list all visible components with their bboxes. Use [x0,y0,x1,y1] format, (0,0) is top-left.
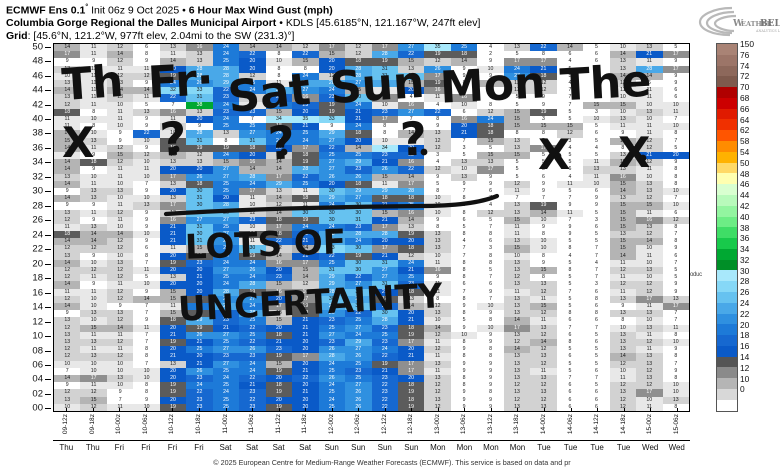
heatmap-cell: 11 [133,325,159,332]
heatmap-cell: 21 [213,325,239,332]
heatmap-cell: 11 [107,281,133,288]
heatmap-cell: 9 [424,217,450,224]
heatmap-cell: 8 [451,274,477,281]
heatmap-cell: 10 [133,375,159,382]
heatmap-cell: 9 [133,58,159,65]
heatmap-cell: 14 [636,73,662,80]
heatmap-cell: 19 [186,310,212,317]
heatmap-cell: 5 [504,51,530,58]
legend-tick-label: 48 [740,169,749,179]
y-axis-tick-mark [45,148,51,149]
heatmap-cell: 13 [610,310,636,317]
x-axis-tick-mark [491,408,492,412]
heatmap-cell: 11 [557,210,583,217]
heatmap-cell: 15 [530,303,556,310]
heatmap-cell: 28 [372,80,398,87]
heatmap-cell: 6 [663,253,689,260]
heatmap-cell: 15 [186,245,212,252]
heatmap-cell: 9 [80,253,106,260]
heatmap-cell: 8 [610,317,636,324]
heatmap-cell: 13 [266,310,292,317]
heatmap-cell: 11 [530,317,556,324]
heatmap-cell: 18 [266,217,292,224]
heatmap-cell: 19 [239,289,265,296]
heatmap-cell: 9 [451,389,477,396]
heatmap-cell: 6 [663,210,689,217]
heatmap-cell: 5 [557,73,583,80]
y-axis-tick-mark [45,206,51,207]
heatmap-cell: 7 [583,267,609,274]
heatmap-cell: 9 [80,152,106,159]
heatmap-cell: 8 [451,260,477,267]
heatmap-cell: 6 [663,94,689,101]
heatmap-cell: 9 [451,397,477,404]
heatmap-cell: 11 [636,346,662,353]
y-axis-tick-label: 24 [32,229,43,240]
heatmap-cell: 9 [663,80,689,87]
legend-tick-label: 50 [740,158,749,168]
heatmap-cell: 27 [213,174,239,181]
heatmap-cell: 28 [213,73,239,80]
heatmap-cell: 13 [504,389,530,396]
legend-swatch [717,357,737,368]
heatmap-cell: 8 [266,73,292,80]
heatmap-cell: 25 [213,245,239,252]
heatmap-cell: 11 [636,94,662,101]
heatmap-cell: 13 [160,210,186,217]
heatmap-cell: 9 [451,368,477,375]
heatmap-cell: 26 [186,368,212,375]
legend-swatch [717,292,737,303]
heatmap-cell: 10 [133,231,159,238]
heatmap-cell: 14 [54,303,80,310]
heatmap-cell: 28 [319,80,345,87]
legend-swatch [717,400,737,411]
heatmap-cell: 9 [107,389,133,396]
heatmap-cell: 4 [477,202,503,209]
heatmap-cell: 20 [186,116,212,123]
heatmap-cell: 13 [424,375,450,382]
heatmap-cell: 11 [504,188,530,195]
heatmap-cell: 12 [530,310,556,317]
heatmap-cell: 17 [319,44,345,51]
heatmap-cell: 12 [530,289,556,296]
heatmap-cell: 24 [213,281,239,288]
heatmap-cell: 14 [266,44,292,51]
heatmap-cell: 29 [372,188,398,195]
heatmap-cell: 5 [504,166,530,173]
heatmap-cell: 13 [610,152,636,159]
heatmap-cell: 10 [530,238,556,245]
heatmap-cell: 7 [663,138,689,145]
y-axis-tick-mark [45,351,51,352]
heatmap-cell: 14 [398,303,424,310]
heatmap-cell: 14 [530,339,556,346]
heatmap-cell: 21 [345,109,371,116]
day-label: Tue [590,443,604,452]
heatmap-cell: 10 [477,303,503,310]
heatmap-cell: 9 [133,188,159,195]
heatmap-cell: 15 [610,159,636,166]
heatmap-cell: 11 [530,296,556,303]
heatmap-cell: 18 [345,181,371,188]
y-axis-tick-mark [45,119,51,120]
heatmap-cell: 19 [530,202,556,209]
heatmap-cell: 8 [530,130,556,137]
legend-swatch [717,367,737,378]
legend-tick-label: 76 [740,50,749,60]
day-label: Sun [404,443,418,452]
heatmap-cell: 29 [292,80,318,87]
heatmap-cell: 10 [636,274,662,281]
heatmap-cell: 16 [292,289,318,296]
heatmap-cell: 8 [133,51,159,58]
heatmap-cell: 30 [319,296,345,303]
heatmap-cell: 22 [213,310,239,317]
heatmap-cell: 31 [186,138,212,145]
x-axis-tick-mark [66,408,67,412]
heatmap-cell: 6 [663,87,689,94]
heatmap-cell: 23 [372,325,398,332]
heatmap-cell: 27 [345,346,371,353]
heatmap-cell: 12 [107,274,133,281]
heatmap-cell: 5 [583,382,609,389]
heatmap-cell: 5 [557,281,583,288]
heatmap-cell: 14 [54,145,80,152]
heatmap-cell: 30 [213,210,239,217]
heatmap-cell: 7 [557,195,583,202]
heatmap-cell: 5 [557,361,583,368]
heatmap-cell: 11 [424,289,450,296]
heatmap-cell: 15 [398,58,424,65]
heatmap-cell: 12 [266,202,292,209]
legend-tick-label: 46 [740,179,749,189]
legend-tick-label: 34 [740,244,749,254]
heatmap-cell: 5 [583,80,609,87]
heatmap-cell: 8 [451,267,477,274]
heatmap-cell: 11 [504,231,530,238]
heatmap-cell: 11 [636,87,662,94]
heatmap-cell: 18 [266,123,292,130]
heatmap-cell: 17 [504,325,530,332]
heatmap-cell: 13 [186,109,212,116]
heatmap-cell: 7 [398,116,424,123]
heatmap-cell: 15 [610,238,636,245]
heatmap-cell: 30 [345,289,371,296]
heatmap-cell: 17 [424,73,450,80]
heatmap-cell: 12 [239,94,265,101]
heatmap-cell: 11 [133,66,159,73]
heatmap-cell: 22 [372,303,398,310]
heatmap-cell: 12 [54,267,80,274]
heatmap-cell: 8 [266,51,292,58]
heatmap-cell: 20 [398,310,424,317]
heatmap-cell: 21 [292,123,318,130]
legend-tick-label: 24 [740,298,749,308]
heatmap-cell: 12 [636,145,662,152]
heatmap-cell: 23 [186,375,212,382]
heatmap-cell: 4 [451,238,477,245]
heatmap-cell: 20 [398,145,424,152]
x-axis-tick-mark [119,408,120,412]
heatmap-cell: 13 [504,310,530,317]
heatmap-cell: 7 [133,361,159,368]
heatmap-cell: 3 [583,281,609,288]
heatmap-cell: 12 [107,210,133,217]
heatmap-cell: 24 [345,102,371,109]
legend-swatch [717,130,737,141]
heatmap-cell: 5 [530,159,556,166]
heatmap-cell: 8 [477,389,503,396]
heatmap-cell: 12 [636,138,662,145]
heatmap-cell: 5 [557,159,583,166]
heatmap-cell: 21 [292,368,318,375]
heatmap-cell: 6 [583,130,609,137]
heatmap-cell: 15 [160,152,186,159]
heatmap-cell: 9 [186,123,212,130]
heatmap-cell: 22 [239,397,265,404]
heatmap-cell: 28 [213,289,239,296]
heatmap-cell: 30 [239,245,265,252]
heatmap-cell: 16 [398,210,424,217]
heatmap-cell: 11 [80,289,106,296]
heatmap-cell: 21 [372,368,398,375]
heatmap-cell: 3 [451,145,477,152]
heatmap-cell: 9 [477,375,503,382]
heatmap-cell: 8 [451,296,477,303]
heatmap-cell: 27 [239,130,265,137]
heatmap-cell: 27 [345,325,371,332]
heatmap-cell: 9 [557,231,583,238]
heatmap-cell: 11 [54,116,80,123]
heatmap-cell: 11 [80,73,106,80]
legend-swatch [717,195,737,206]
heatmap-cell: 14 [160,58,186,65]
day-label: Thu [59,443,73,452]
legend-swatch [717,378,737,389]
heatmap-cell: 24 [239,303,265,310]
heatmap-cell: 23 [186,260,212,267]
heatmap-cell: 7 [557,102,583,109]
heatmap-cell: 14 [610,138,636,145]
heatmap-cell: 23 [213,109,239,116]
heatmap-cell: 24 [266,130,292,137]
heatmap-cell: 21 [266,339,292,346]
heatmap-cell: 8 [663,375,689,382]
heatmap-cell: 30 [319,217,345,224]
heatmap-cell: 27 [213,296,239,303]
heatmap-cell: 30 [345,94,371,101]
day-label: Sat [273,443,285,452]
heatmap-cell: 5 [530,152,556,159]
heatmap-cell: 10 [424,195,450,202]
heatmap-cell: 20 [160,188,186,195]
heatmap-cell: 17 [398,361,424,368]
heatmap-cell: 22 [266,238,292,245]
heatmap-cell: 15 [477,138,503,145]
heatmap-cell: 7 [583,274,609,281]
heatmap-cell: 12 [292,281,318,288]
heatmap-cell: 9 [80,58,106,65]
ensemble-gust-heatmap[interactable]: 1411126131624141412171217273525413221451… [53,43,690,412]
heatmap-cell: 14 [504,317,530,324]
day-label: Sat [246,443,258,452]
legend-tick-label: 72 [740,71,749,81]
heatmap-cell: 7 [663,260,689,267]
y-axis-tick-label: 16 [32,287,43,298]
heatmap-cell: 8 [663,224,689,231]
legend-tick-label: 44 [740,190,749,200]
heatmap-cell: 22 [319,145,345,152]
heatmap-cell: 11 [80,332,106,339]
heatmap-cell: 10 [54,361,80,368]
day-label: Mon [457,443,473,452]
heatmap-cell: 9 [583,202,609,209]
heatmap-cell: 17 [504,58,530,65]
heatmap-cell: 12 [424,145,450,152]
heatmap-cell: 9 [451,346,477,353]
heatmap-cell: 12 [54,102,80,109]
heatmap-cell: 13 [636,375,662,382]
heatmap-cell: 13 [54,210,80,217]
heatmap-cell: 17 [266,174,292,181]
heatmap-cell: 29 [345,159,371,166]
heatmap-cell: 25 [292,130,318,137]
heatmap-cell: 19 [345,253,371,260]
x-axis-tick-label: 09-18z [89,414,96,434]
heatmap-cell: 14 [292,274,318,281]
heatmap-cell: 18 [398,195,424,202]
heatmap-cell: 13 [610,116,636,123]
heatmap-cell: 19 [266,368,292,375]
heatmap-cell: 10 [107,361,133,368]
heatmap-cell: 22 [372,382,398,389]
heatmap-cell: 11 [54,289,80,296]
heatmap-cell: 26 [319,310,345,317]
heatmap-cell: 21 [292,253,318,260]
heatmap-cell: 34 [266,116,292,123]
legend-swatch [717,173,737,184]
heatmap-cell: 30 [186,188,212,195]
heatmap-cell: 3 [530,166,556,173]
heatmap-cell: 30 [372,310,398,317]
heatmap-cell: 5 [504,174,530,181]
heatmap-cell: 11 [133,166,159,173]
legend-tick-label: 38 [740,223,749,233]
heatmap-cell: 13 [424,130,450,137]
heatmap-cell: 6 [133,245,159,252]
heatmap-cell: 19 [213,145,239,152]
heatmap-cell: 25 [319,325,345,332]
heatmap-cell: 14 [266,253,292,260]
heatmap-cell: 16 [186,44,212,51]
heatmap-cell: 22 [372,353,398,360]
y-axis-tick-mark [45,133,51,134]
heatmap-cell: 9 [133,116,159,123]
heatmap-cell: 13 [424,397,450,404]
heatmap-cell: 25 [213,181,239,188]
y-axis-tick-label: 34 [32,157,43,168]
heatmap-cell: 5 [424,181,450,188]
heatmap-cell: 7 [477,274,503,281]
heatmap-cell: 6 [557,397,583,404]
heatmap-cell: 14 [266,195,292,202]
heatmap-cell: 13 [54,94,80,101]
heatmap-cell: 19 [398,332,424,339]
heatmap-cell: 5 [557,152,583,159]
heatmap-cell: 7 [477,296,503,303]
heatmap-cell: 13 [610,58,636,65]
heatmap-cell: 18 [160,145,186,152]
heatmap-cell: 7 [663,317,689,324]
heatmap-cell: 10 [107,181,133,188]
heatmap-cell: 24 [319,202,345,209]
heatmap-cell: 6 [451,109,477,116]
heatmap-cell: 5 [583,353,609,360]
heatmap-cell: 25 [213,274,239,281]
y-axis-tick-label: 02 [32,388,43,399]
heatmap-cell: 22 [292,231,318,238]
heatmap-cell: 28 [398,188,424,195]
heatmap-cell: 19 [186,253,212,260]
heatmap-cell: 8 [477,317,503,324]
heatmap-cell: 26 [319,375,345,382]
heatmap-cell: 25 [398,202,424,209]
legend-tick-label: 16 [740,341,749,351]
heatmap-cell: 11 [160,245,186,252]
legend-swatch [717,98,737,109]
heatmap-cell: 13 [530,375,556,382]
heatmap-cell: 19 [186,145,212,152]
y-axis-tick-mark [45,336,51,337]
heatmap-cell: 10 [610,44,636,51]
heatmap-cell: 20 [160,267,186,274]
heatmap-cell: 25 [213,58,239,65]
heatmap-cell: 12 [530,80,556,87]
heatmap-cell: 15 [504,152,530,159]
heatmap-cell: 13 [107,188,133,195]
heatmap-cell: 11 [292,202,318,209]
heatmap-cell: 10 [663,339,689,346]
x-axis-tick-label: 11-18z [301,414,308,434]
heatmap-cell: 11 [239,195,265,202]
legend-tick-label: 26 [740,287,749,297]
heatmap-cell: 8 [80,123,106,130]
heatmap-cell: 10 [266,58,292,65]
heatmap-cell: 21 [398,267,424,274]
heatmap-cell: 21 [372,289,398,296]
y-axis-tick-mark [45,293,51,294]
heatmap-cell: 14 [54,181,80,188]
heatmap-cell: 20 [398,238,424,245]
heatmap-cell: 9 [530,102,556,109]
heatmap-cell: 25 [398,274,424,281]
heatmap-cell: 8 [663,332,689,339]
heatmap-cell: 13 [133,202,159,209]
heatmap-cell: 9 [477,382,503,389]
heatmap-cell: 15 [504,123,530,130]
y-axis-tick-label: 44 [32,85,43,96]
heatmap-cell: 28 [345,296,371,303]
heatmap-cell: 22 [160,94,186,101]
x-axis-tick-mark [332,408,333,412]
heatmap-cell: 6 [557,353,583,360]
heatmap-cell: 10 [424,210,450,217]
heatmap-cell: 11 [372,87,398,94]
heatmap-cell: 13 [636,310,662,317]
heatmap-cell: 9 [663,281,689,288]
heatmap-cell: 7 [530,195,556,202]
